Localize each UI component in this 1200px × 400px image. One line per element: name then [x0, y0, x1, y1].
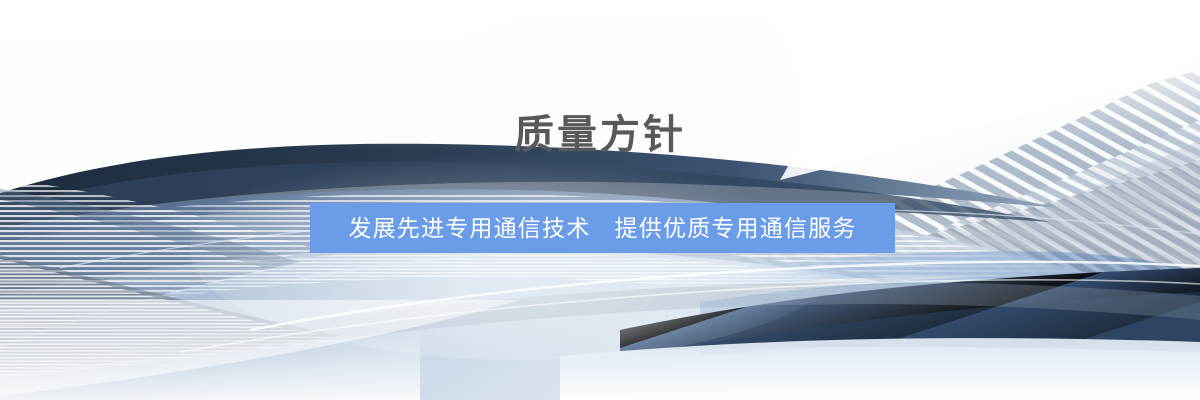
slogan-text: 发展先进专用通信技术 提供优质专用通信服务: [348, 217, 856, 240]
page-title: 质量方针: [0, 112, 1200, 158]
banner-text-content: 质量方针 发展先进专用通信技术 提供优质专用通信服务: [0, 0, 1200, 400]
quality-policy-banner: 质量方针 发展先进专用通信技术 提供优质专用通信服务: [0, 0, 1200, 400]
slogan-bar: 发展先进专用通信技术 提供优质专用通信服务: [310, 203, 895, 253]
